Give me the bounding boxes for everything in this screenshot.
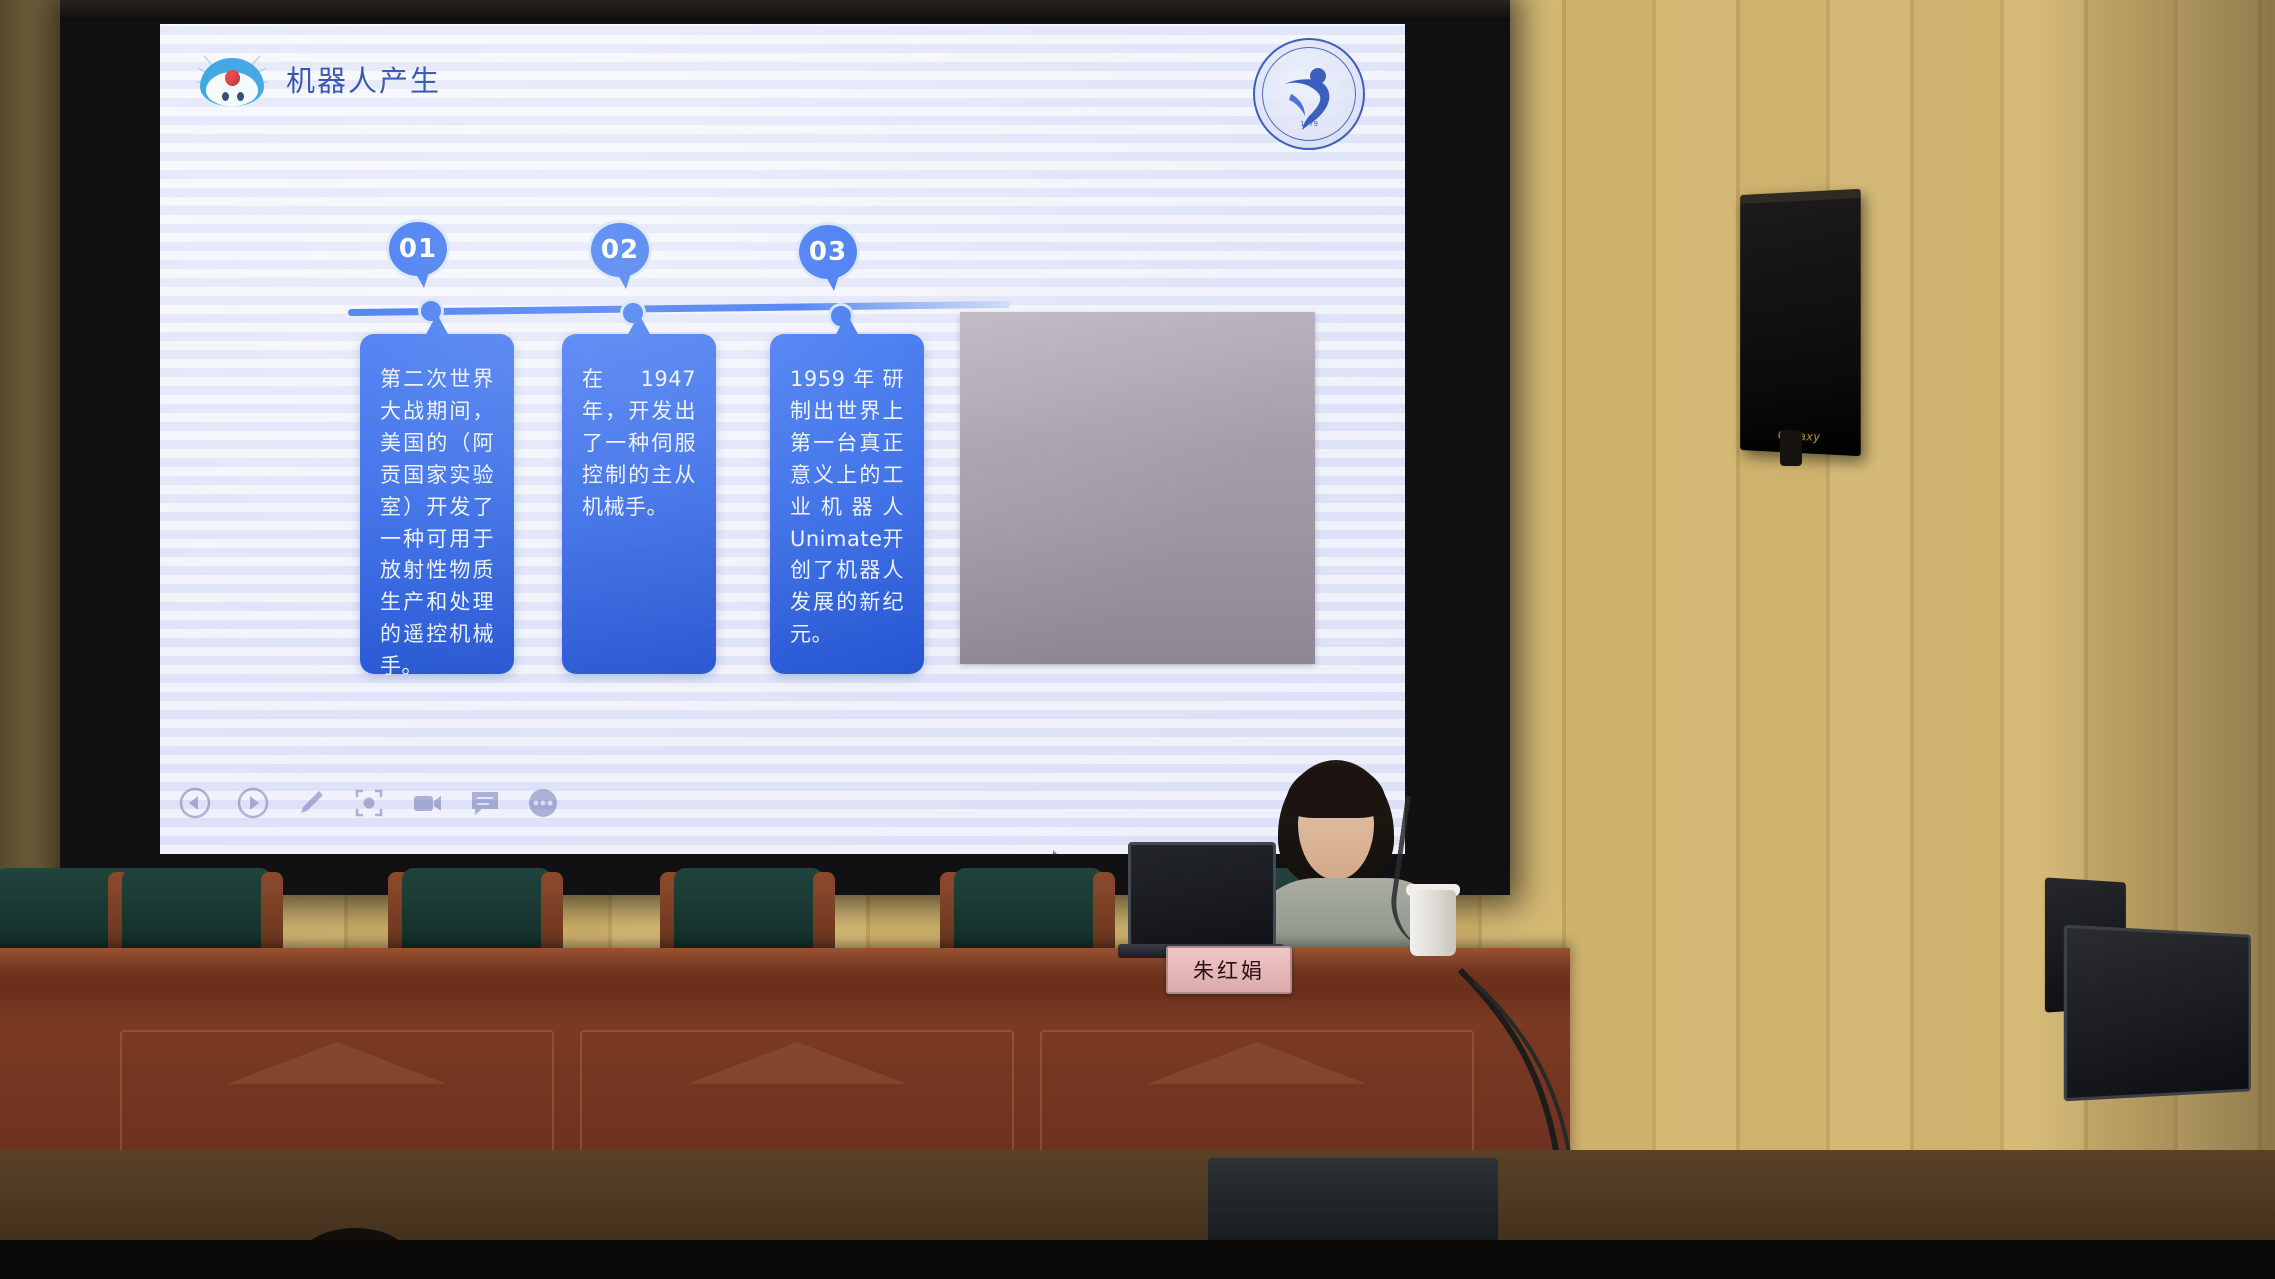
nameplate: 朱红娟 (1166, 946, 1292, 994)
previous-slide-icon[interactable] (178, 786, 212, 820)
timeline-badge-2[interactable]: 02 (591, 223, 649, 277)
seal-figure: 1979 (1269, 54, 1349, 134)
timeline-card-2[interactable]: 在1947年，开发出了一种伺服控制的主从机械手。 (562, 334, 716, 674)
video-icon[interactable] (410, 786, 444, 820)
speaker-mount-bracket (1780, 430, 1802, 466)
timeline-badge-3[interactable]: 03 (799, 225, 857, 279)
presentation-toolbar[interactable] (178, 786, 560, 820)
tea-cup-icon (1410, 890, 1456, 956)
doraemon-icon (196, 48, 268, 110)
floor-equipment-box (1208, 1158, 1498, 1250)
desk-top-edge (0, 948, 1570, 972)
slide-header: 机器人产生 (196, 48, 441, 110)
school-seal-icon: 1979 (1253, 38, 1365, 150)
timeline-card-3[interactable]: 1959年研制出世界上第一台真正意义上的工业机器人Unimate开创了机器人发展… (770, 334, 924, 674)
timeline-card-1[interactable]: 第二次世界大战期间，美国的（阿贡国家实验室）开发了一种可用于放射性物质生产和处理… (360, 334, 514, 674)
mouse-cursor (1053, 850, 1065, 854)
doraemon-eye-left (222, 92, 229, 101)
next-slide-icon[interactable] (236, 786, 270, 820)
foreground-shadow (0, 1240, 2275, 1279)
svg-text:1979: 1979 (1300, 120, 1318, 128)
doraemon-nose (225, 70, 240, 86)
slide-title: 机器人产生 (286, 58, 441, 100)
laptop-icon (1128, 842, 1276, 952)
pen-icon[interactable] (294, 786, 328, 820)
more-options-icon[interactable] (526, 786, 560, 820)
timeline-badge-1[interactable]: 01 (389, 222, 447, 276)
doraemon-eye-right (237, 92, 244, 101)
presentation-slide[interactable]: 机器人产生 1979 01 02 03 第二次世界 (160, 24, 1405, 854)
presenter-hair-front (1286, 764, 1386, 818)
laser-pointer-icon[interactable] (352, 786, 386, 820)
lecture-hall-scene: Galaxy 机 (0, 0, 2275, 1279)
notes-icon[interactable] (468, 786, 502, 820)
photo-background (960, 312, 1315, 664)
side-monitor-front (2064, 925, 2251, 1102)
unimate-historical-photo[interactable] (960, 312, 1315, 664)
wall-speaker-icon: Galaxy (1740, 189, 1861, 456)
